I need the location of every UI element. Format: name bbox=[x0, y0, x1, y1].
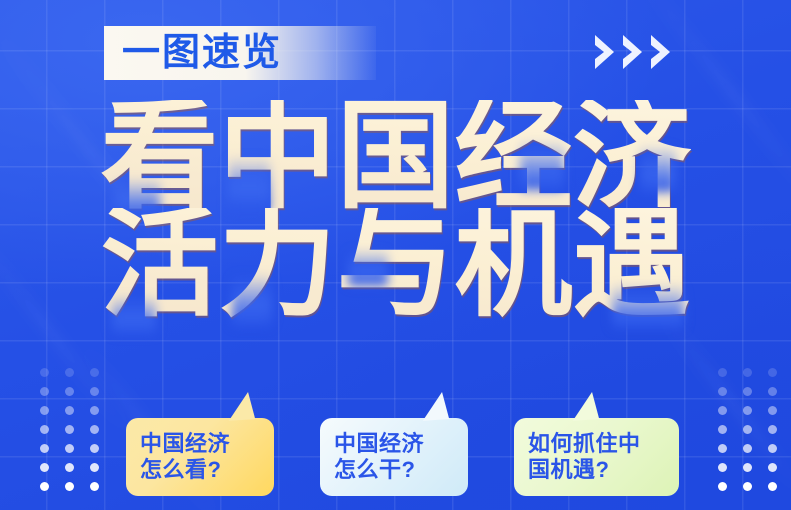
decor-dot bbox=[65, 368, 74, 377]
chevron-right-icon bbox=[648, 32, 674, 72]
decor-dot bbox=[40, 387, 49, 396]
decor-dot bbox=[743, 368, 752, 377]
bubble-line-1: 中国经济 bbox=[334, 431, 454, 457]
decor-dot bbox=[768, 368, 777, 377]
bubble-tail bbox=[229, 391, 262, 421]
bubble-line-2: 国机遇? bbox=[528, 457, 665, 483]
poster-canvas: 一图速览 看中国经济 活力与机遇 中国经济 bbox=[0, 0, 791, 510]
chevron-right-icon bbox=[620, 32, 646, 72]
bubble-row: 中国经济 怎么看? 中国经济 怎么干? 如何抓住中 国机遇? bbox=[0, 408, 791, 500]
decor-dot bbox=[40, 368, 49, 377]
banner-label: 一图速览 bbox=[104, 34, 282, 72]
title-line-2: 活力与机遇 bbox=[100, 208, 690, 324]
bubble-line-1: 中国经济 bbox=[140, 431, 260, 457]
decor-dot bbox=[743, 387, 752, 396]
bubble-how-to-do[interactable]: 中国经济 怎么干? bbox=[320, 418, 468, 496]
header-banner: 一图速览 bbox=[104, 26, 376, 80]
bubble-tail bbox=[423, 391, 456, 421]
bubble-line-2: 怎么干? bbox=[334, 457, 454, 483]
main-title: 看中国经济 活力与机遇 bbox=[0, 100, 791, 323]
decor-dot bbox=[718, 368, 727, 377]
decor-dot bbox=[90, 368, 99, 377]
decor-dot bbox=[90, 387, 99, 396]
bubble-tail bbox=[573, 391, 606, 421]
bubble-line-2: 怎么看? bbox=[140, 457, 260, 483]
decor-dot bbox=[768, 387, 777, 396]
decor-dot bbox=[65, 387, 74, 396]
bubble-how-to-seize[interactable]: 如何抓住中 国机遇? bbox=[514, 418, 679, 496]
title-line-2-wrap: 活力与机遇 bbox=[100, 216, 690, 324]
chevron-arrows bbox=[592, 32, 674, 72]
bubble-line-1: 如何抓住中 bbox=[528, 431, 665, 457]
decor-dot bbox=[718, 387, 727, 396]
bubble-how-to-view[interactable]: 中国经济 怎么看? bbox=[126, 418, 274, 496]
chevron-right-icon bbox=[592, 32, 618, 72]
